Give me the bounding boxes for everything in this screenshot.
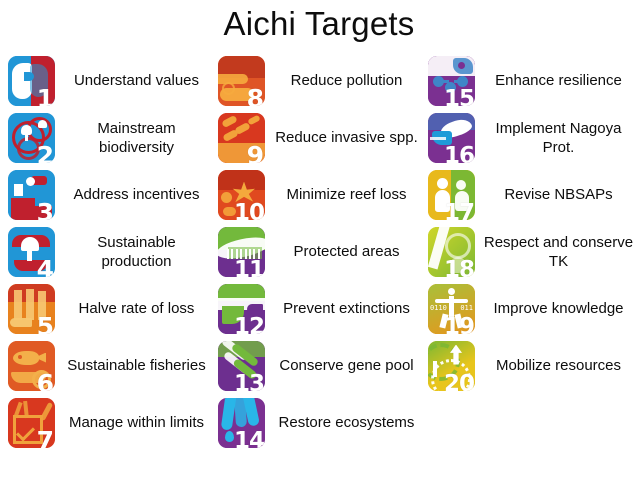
targets-column-1: 1Understand values2Mainstream biodiversi…: [8, 52, 212, 451]
pollution-pipe-icon[interactable]: 8: [218, 56, 265, 106]
water-restore-icon[interactable]: 14: [218, 398, 265, 448]
binary-text-right: 011: [460, 304, 473, 312]
nbsap-people-icon[interactable]: 17: [428, 170, 475, 220]
target-number: 11: [234, 259, 264, 277]
target-label: Restore ecosystems: [265, 413, 422, 432]
resources-dollar-icon[interactable]: 20: [428, 341, 475, 391]
slide-canvas: Aichi Targets 1Understand values2Mainstr…: [0, 0, 638, 479]
target-label: Manage within limits: [55, 413, 212, 432]
target-row[interactable]: 18Respect and conserve TK: [428, 223, 638, 280]
target-row[interactable]: 4Sustainable production: [8, 223, 212, 280]
target-row[interactable]: 9Reduce invasive spp.: [218, 109, 422, 166]
knowledge-binary-icon[interactable]: 011001119: [428, 284, 475, 334]
target-label: Mobilize resources: [475, 356, 638, 375]
target-row[interactable]: 14Restore ecosystems: [218, 394, 422, 451]
target-number: 10: [234, 202, 264, 220]
extinction-bird-icon[interactable]: 12: [218, 284, 265, 334]
target-row[interactable]: 15Enhance resilience: [428, 52, 638, 109]
target-label: Revise NBSAPs: [475, 185, 638, 204]
target-number: 7: [37, 428, 53, 448]
target-label: Improve knowledge: [475, 299, 638, 318]
target-row[interactable]: 20Mobilize resources: [428, 337, 638, 394]
target-number: 13: [234, 373, 264, 391]
target-label: Conserve gene pool: [265, 356, 422, 375]
target-label: Sustainable production: [55, 233, 212, 271]
target-number: 12: [234, 316, 264, 334]
factory-incentives-icon[interactable]: 3: [8, 170, 55, 220]
target-row[interactable]: 17Revise NBSAPs: [428, 166, 638, 223]
target-row[interactable]: 2Mainstream biodiversity: [8, 109, 212, 166]
target-row[interactable]: 6Sustainable fisheries: [8, 337, 212, 394]
target-row[interactable]: 7Manage within limits: [8, 394, 212, 451]
target-label: Implement Nagoya Prot.: [475, 119, 638, 157]
target-number: 9: [247, 143, 263, 163]
binary-text-left: 0110: [430, 304, 447, 312]
target-label: Protected areas: [265, 242, 422, 261]
targets-column-3: 15Enhance resilience16Implement Nagoya P…: [428, 52, 638, 394]
target-label: Minimize reef loss: [265, 185, 422, 204]
target-number: 1: [37, 86, 53, 106]
target-number: 20: [444, 373, 474, 391]
traditional-knowledge-icon[interactable]: 18: [428, 227, 475, 277]
target-row[interactable]: 5Halve rate of loss: [8, 280, 212, 337]
target-row[interactable]: 3Address incentives: [8, 166, 212, 223]
target-label: Reduce pollution: [265, 71, 422, 90]
target-label: Respect and conserve TK: [475, 233, 638, 271]
target-row[interactable]: 16Implement Nagoya Prot.: [428, 109, 638, 166]
target-number: 19: [444, 316, 474, 334]
trees-circles-icon[interactable]: 2: [8, 113, 55, 163]
target-row[interactable]: 12Prevent extinctions: [218, 280, 422, 337]
target-row[interactable]: 10Minimize reef loss: [218, 166, 422, 223]
target-number: 5: [37, 314, 53, 334]
nagoya-leaf-icon[interactable]: 16: [428, 113, 475, 163]
production-arrows-icon[interactable]: 4: [8, 227, 55, 277]
target-number: 16: [444, 145, 474, 163]
target-number: 2: [37, 143, 53, 163]
target-row[interactable]: 13Conserve gene pool: [218, 337, 422, 394]
checklist-wheat-icon[interactable]: 7: [8, 398, 55, 448]
two-faces-icon[interactable]: 1: [8, 56, 55, 106]
target-number: 3: [37, 200, 53, 220]
target-number: 6: [37, 371, 53, 391]
target-number: 18: [444, 259, 474, 277]
resilience-molecule-icon[interactable]: 15: [428, 56, 475, 106]
target-row[interactable]: 8Reduce pollution: [218, 52, 422, 109]
target-number: 14: [234, 430, 264, 448]
forest-loss-icon[interactable]: 5: [8, 284, 55, 334]
target-number: 15: [444, 88, 474, 106]
invasive-species-icon[interactable]: 9: [218, 113, 265, 163]
target-label: Mainstream biodiversity: [55, 119, 212, 157]
target-row[interactable]: 011001119Improve knowledge: [428, 280, 638, 337]
target-label: Understand values: [55, 71, 212, 90]
targets-column-2: 8Reduce pollution9Reduce invasive spp.10…: [218, 52, 422, 451]
target-row[interactable]: 1Understand values: [8, 52, 212, 109]
page-title: Aichi Targets: [0, 4, 638, 44]
target-row[interactable]: 11Protected areas: [218, 223, 422, 280]
coral-reef-icon[interactable]: 10: [218, 170, 265, 220]
target-label: Halve rate of loss: [55, 299, 212, 318]
target-label: Prevent extinctions: [265, 299, 422, 318]
target-label: Enhance resilience: [475, 71, 638, 90]
target-label: Sustainable fisheries: [55, 356, 212, 375]
target-number: 4: [37, 257, 53, 277]
target-number: 17: [444, 202, 474, 220]
fish-boat-icon[interactable]: 6: [8, 341, 55, 391]
target-number: 8: [247, 86, 263, 106]
protected-area-icon[interactable]: 11: [218, 227, 265, 277]
gene-pool-icon[interactable]: 13: [218, 341, 265, 391]
target-label: Reduce invasive spp.: [265, 128, 422, 147]
target-label: Address incentives: [55, 185, 212, 204]
